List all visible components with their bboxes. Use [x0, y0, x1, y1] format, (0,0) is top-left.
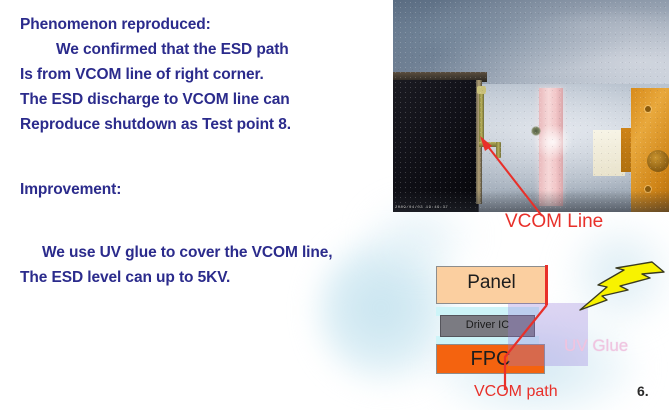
page-number: 6.: [637, 383, 649, 399]
vcom-path-label: VCOM path: [474, 383, 558, 401]
slide-canvas: Phenomenon reproduced: We confirmed that…: [0, 0, 669, 410]
esd-lightning-bolt-icon: [580, 262, 669, 316]
vcom-path-polyline: [0, 0, 669, 410]
